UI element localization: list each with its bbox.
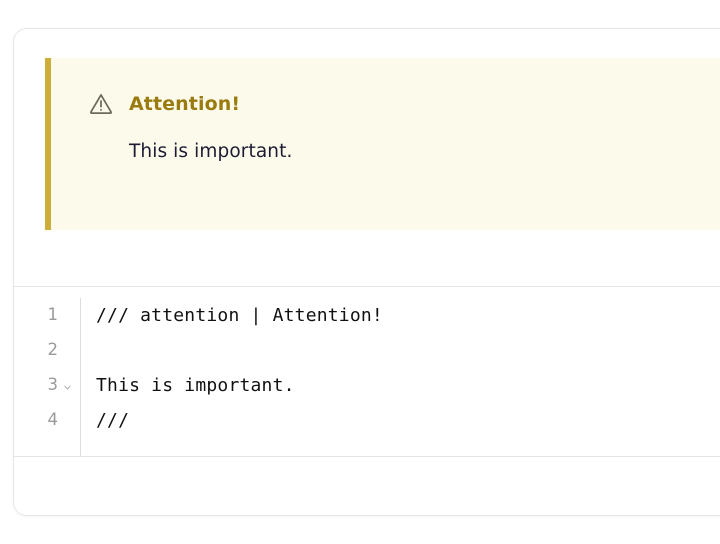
admonition-preview-pane: Attention! This is important. (14, 29, 720, 286)
code-text-area[interactable]: /// attention | Attention! This is impor… (81, 298, 720, 456)
gutter-line: 2 (14, 333, 80, 368)
line-number: 2 (48, 342, 59, 359)
gutter-line: 3 (14, 368, 80, 403)
gutter-line: 4 (14, 403, 80, 438)
admonition-attention: Attention! This is important. (45, 58, 720, 230)
code-line[interactable]: This is important. (96, 368, 720, 403)
code-line[interactable]: /// attention | Attention! (96, 298, 720, 333)
fold-placeholder (63, 416, 72, 425)
line-number: 1 (48, 307, 59, 324)
code-line[interactable]: /// (96, 403, 720, 438)
card-footer (14, 457, 720, 516)
chevron-down-icon[interactable] (63, 379, 72, 392)
fold-placeholder (63, 311, 72, 320)
example-card: Attention! This is important. 1 2 3 (13, 28, 720, 516)
admonition-body: Attention! This is important. (51, 58, 720, 230)
line-number-gutter: 1 2 3 4 (14, 298, 81, 456)
code-line[interactable] (96, 333, 720, 368)
fold-placeholder (63, 346, 72, 355)
admonition-text: This is important. (129, 141, 720, 162)
admonition-title-row: Attention! (88, 91, 720, 117)
line-number: 4 (48, 412, 59, 429)
warning-triangle-icon (88, 91, 114, 117)
line-number: 3 (48, 377, 59, 394)
admonition-title: Attention! (129, 93, 240, 115)
gutter-line: 1 (14, 298, 80, 333)
source-code-pane[interactable]: 1 2 3 4 /// attention | Attent (14, 287, 720, 456)
